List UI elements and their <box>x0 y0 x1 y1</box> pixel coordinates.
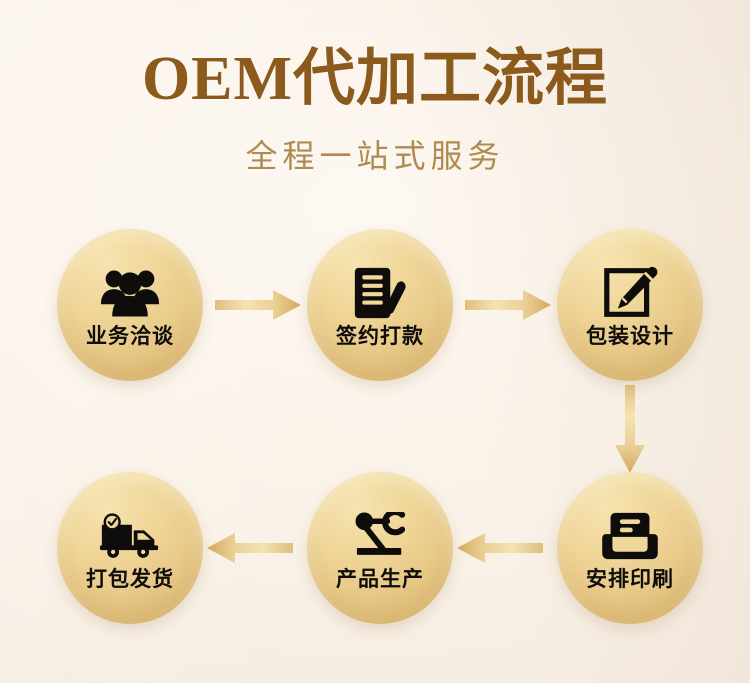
flow-step-label: 签约打款 <box>336 326 424 347</box>
people-group-icon <box>99 264 161 322</box>
flow-step-packing-shipping[interactable]: 打包发货 <box>57 472 203 624</box>
flow-step-business-negotiation[interactable]: 业务洽谈 <box>57 229 203 381</box>
flow-step-packaging-design[interactable]: 包装设计 <box>557 229 703 381</box>
flow-step-label: 打包发货 <box>86 569 174 590</box>
flow-step-arrange-printing[interactable]: 安排印刷 <box>557 472 703 624</box>
connector-arrow-left-2 <box>207 531 293 565</box>
flow-step-label: 安排印刷 <box>586 569 674 590</box>
page-title: OEM代加工流程 <box>0 46 750 113</box>
poster-header: OEM代加工流程 全程一站式服务 <box>0 0 750 177</box>
connector-arrow-down <box>613 385 647 473</box>
robot-arm-icon <box>349 507 411 565</box>
printer-icon <box>599 507 661 565</box>
flow-step-label: 业务洽谈 <box>86 326 174 347</box>
flow-step-label: 包装设计 <box>586 326 674 347</box>
flow-step-production[interactable]: 产品生产 <box>307 472 453 624</box>
connector-arrow-right-1 <box>215 288 301 322</box>
connector-arrow-left-1 <box>457 531 543 565</box>
pencil-square-icon <box>599 264 661 322</box>
contract-pen-icon <box>349 264 411 322</box>
flow-step-label: 产品生产 <box>336 569 424 590</box>
connector-arrow-right-2 <box>465 288 551 322</box>
oem-process-poster: OEM代加工流程 全程一站式服务 <box>0 0 750 683</box>
flow-step-contract-payment[interactable]: 签约打款 <box>307 229 453 381</box>
page-subtitle: 全程一站式服务 <box>0 131 750 177</box>
delivery-truck-icon <box>99 507 161 565</box>
